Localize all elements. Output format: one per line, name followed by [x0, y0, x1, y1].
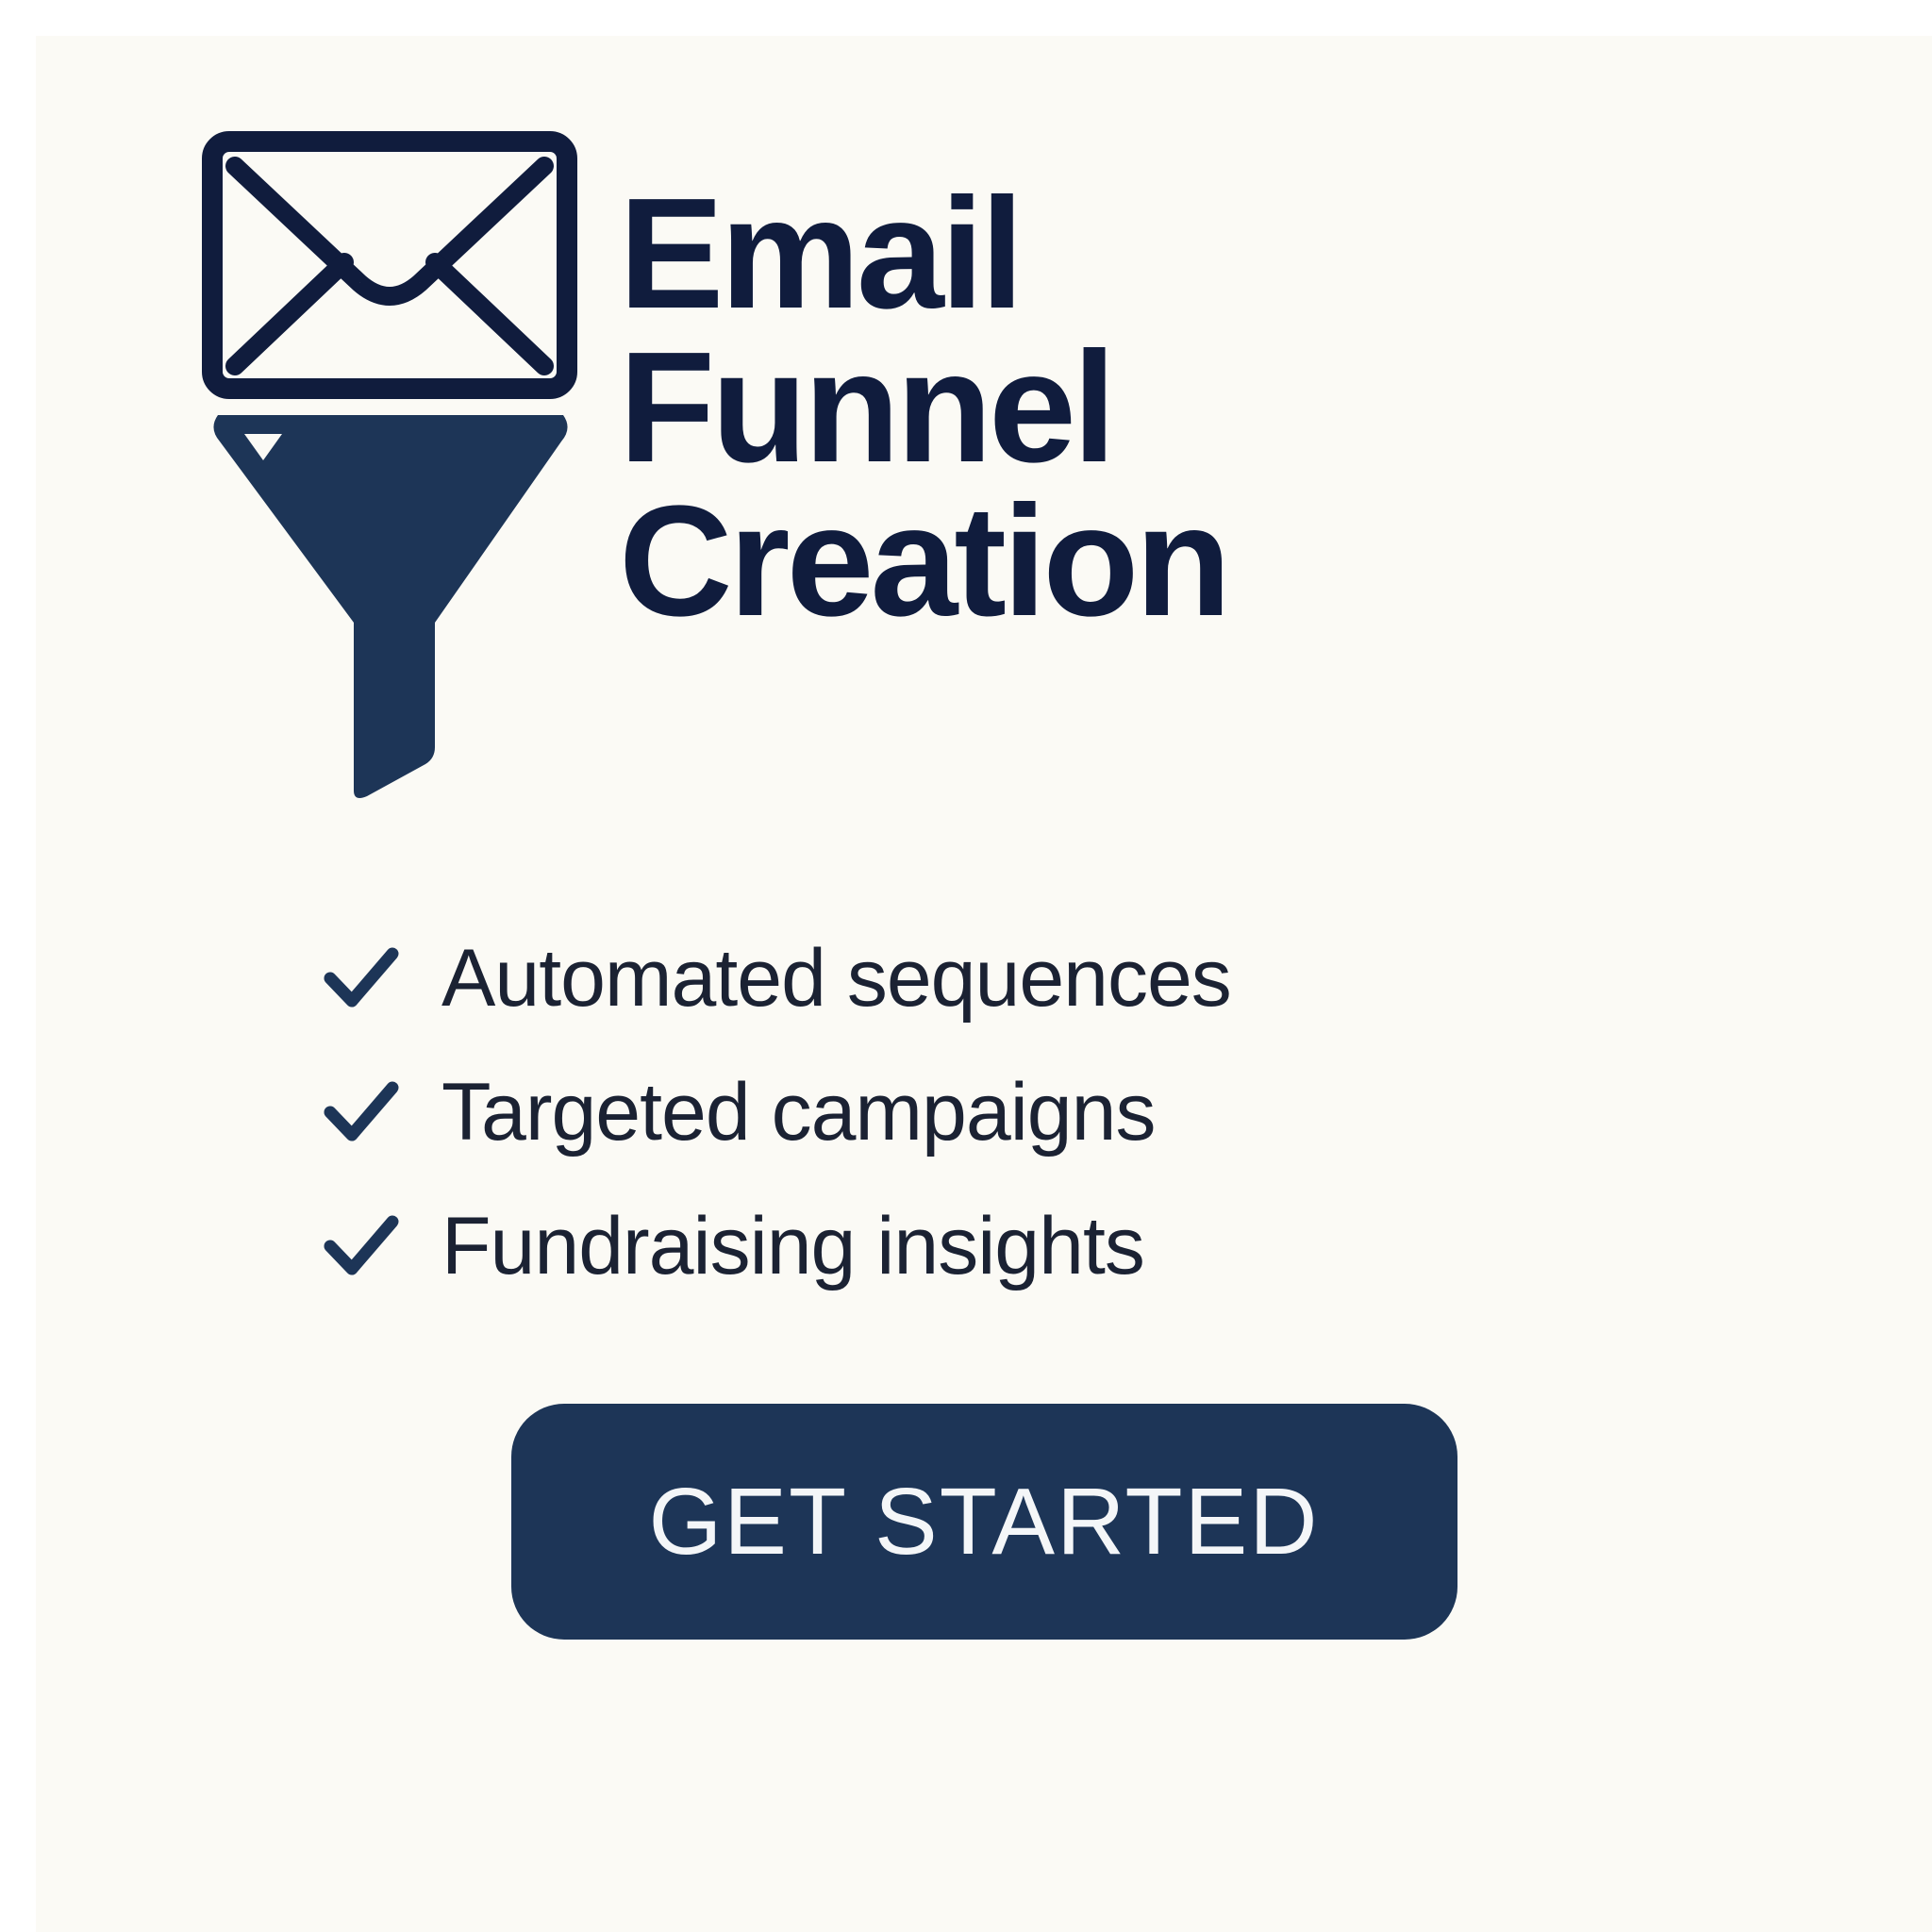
email-funnel-logo: [201, 130, 578, 828]
check-icon: [317, 935, 404, 1022]
hero-section: Email Funnel Creation: [36, 36, 1932, 885]
title-line-3: Creation: [619, 485, 1845, 639]
list-item: Automated sequences: [36, 911, 1932, 1045]
get-started-button[interactable]: GET STARTED: [511, 1404, 1457, 1640]
title-line-2: Funnel: [619, 331, 1845, 485]
feature-label: Fundraising insights: [441, 1206, 1144, 1287]
check-icon: [317, 1069, 404, 1156]
feature-label: Targeted campaigns: [441, 1072, 1155, 1153]
promo-card: Email Funnel Creation Automated sequence…: [36, 36, 1932, 1932]
feature-list: Automated sequences Targeted campaigns F…: [36, 911, 1932, 1313]
list-item: Targeted campaigns: [36, 1045, 1932, 1179]
brandmark-svg: [201, 130, 578, 828]
feature-label: Automated sequences: [441, 938, 1231, 1019]
title-line-1: Email: [619, 177, 1845, 331]
envelope-icon: [212, 142, 567, 389]
check-icon: [317, 1203, 404, 1290]
page-title: Email Funnel Creation: [619, 177, 1845, 639]
funnel-icon: [213, 415, 567, 798]
list-item: Fundraising insights: [36, 1179, 1932, 1313]
cta-section: GET STARTED: [36, 1404, 1932, 1640]
